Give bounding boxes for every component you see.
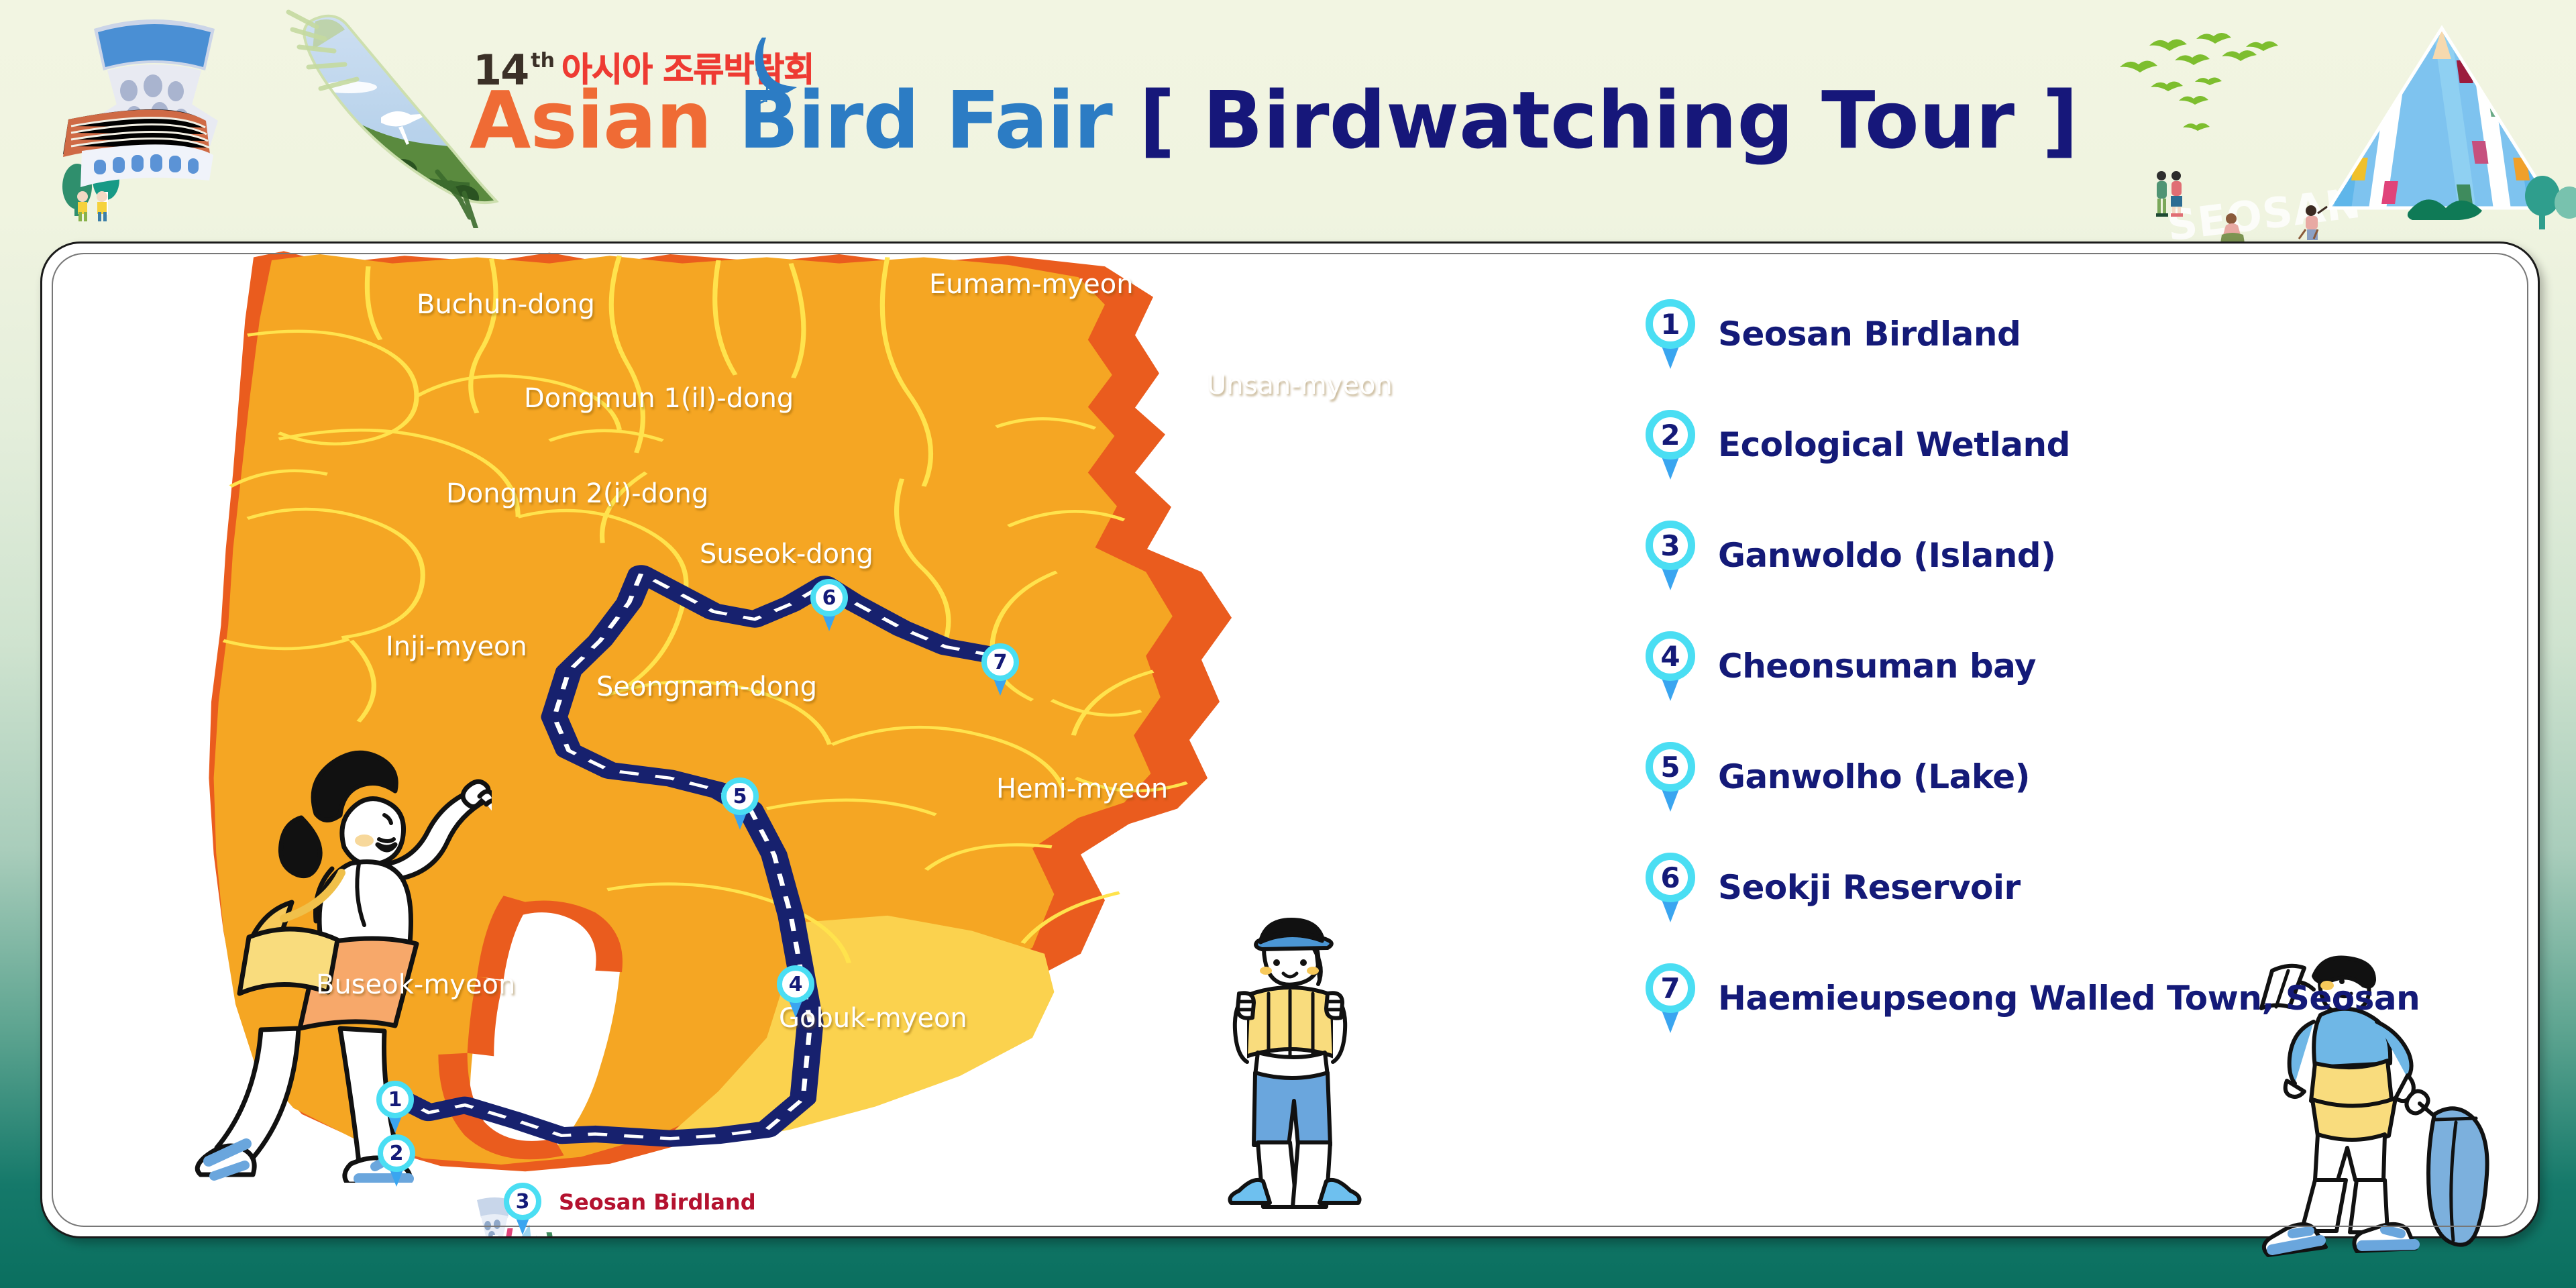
poster-root: 14 th 아시아 조류박람회 Asian Bird Fair [ Birdwa… (0, 0, 2576, 1288)
legend-pin-5: 5 (1646, 742, 1695, 812)
pin-number: 4 (1646, 631, 1695, 681)
legend-pin-4: 4 (1646, 631, 1695, 701)
legend-label-3: Ganwoldo (Island) (1718, 536, 2055, 575)
pin-number: 2 (1646, 410, 1695, 460)
edition-suffix: th (531, 49, 555, 72)
tour-stops-legend: 1 Seosan Birdland 2 Ecological Wetland 3 (1646, 284, 2504, 1196)
legend-pin-2: 2 (1646, 410, 1695, 480)
legend-label-6: Seokji Reservoir (1718, 868, 2021, 907)
legend-label-4: Cheonsuman bay (1718, 647, 2036, 686)
map-marker-1[interactable]: 1 (376, 1081, 414, 1133)
legend-label-1: Seosan Birdland (1718, 315, 2021, 354)
map-label-seosan-birdland: Seosan Birdland (559, 1189, 756, 1215)
region-label-buseok-myeon: Buseok-myeon (316, 969, 515, 1000)
pin-number: 5 (1646, 742, 1695, 792)
legend-item-5[interactable]: 5 Ganwolho (Lake) (1646, 740, 2030, 814)
map-pin-number: 5 (721, 777, 759, 815)
region-label-dongmun-1-dong: Dongmun 1(il)-dong (524, 383, 794, 414)
region-label-dongmun-2-dong: Dongmun 2(i)-dong (446, 478, 708, 509)
region-label-seongnam-dong: Seongnam-dong (596, 672, 817, 702)
map-pin-number: 4 (777, 965, 814, 1003)
map-marker-2[interactable]: 2 (378, 1134, 415, 1187)
legend-item-4[interactable]: 4 Cheonsuman bay (1646, 629, 2036, 703)
region-label-inji-myeon: Inji-myeon (386, 631, 527, 662)
map-marker-4[interactable]: 4 (777, 965, 814, 1018)
legend-pin-3: 3 (1646, 521, 1695, 590)
content-frame: Seosan Birdland Buchun-dong Eumam-myeon … (40, 241, 2540, 1238)
map-pin-number: 1 (376, 1081, 414, 1118)
map-marker-3[interactable]: 3 (504, 1183, 541, 1235)
region-label-buchun-dong: Buchun-dong (417, 289, 595, 320)
title-birdwatching-tour: [ Birdwatching Tour ] (1139, 74, 2078, 166)
page-title: Asian Bird Fair [ Birdwatching Tour ] (470, 80, 2078, 160)
map-pin-number: 7 (981, 643, 1019, 681)
region-label-hemi-myeon: Hemi-myeon (996, 773, 1168, 804)
pin-number: 3 (1646, 521, 1695, 570)
bird-observation-tower-illustration (27, 7, 309, 221)
seosan-watermark: SEOSAN (2165, 178, 2364, 251)
title-asian: Asian (470, 74, 712, 166)
map-pin-number: 2 (378, 1134, 415, 1172)
poster-header: 14 th 아시아 조류박람회 Asian Bird Fair [ Birdwa… (470, 34, 2080, 188)
legend-pin-7: 7 (1646, 963, 1695, 1033)
title-bird-fair: Bird Fair (739, 74, 1112, 166)
bird-flock-icon (2113, 27, 2301, 148)
pin-number: 7 (1646, 963, 1695, 1013)
legend-label-5: Ganwolho (Lake) (1718, 757, 2030, 796)
legend-pin-1: 1 (1646, 299, 1695, 369)
legend-item-1[interactable]: 1 Seosan Birdland (1646, 297, 2021, 371)
region-label-eumam-myeon: Eumam-myeon (929, 269, 1134, 300)
map-marker-6[interactable]: 6 (810, 579, 848, 631)
legend-label-2: Ecological Wetland (1718, 425, 2070, 464)
pin-number: 1 (1646, 299, 1695, 349)
legend-item-7[interactable]: 7 Haemieupseong Walled Town, Seosan (1646, 961, 2420, 1035)
legend-label-7: Haemieupseong Walled Town, Seosan (1718, 979, 2420, 1018)
legend-item-3[interactable]: 3 Ganwoldo (Island) (1646, 519, 2055, 592)
region-label-unsan-myeon: Unsan-myeon (1207, 370, 1393, 400)
region-label-suseok-dong: Suseok-dong (700, 539, 873, 570)
legend-pin-6: 6 (1646, 853, 1695, 922)
legend-item-6[interactable]: 6 Seokji Reservoir (1646, 851, 2021, 924)
legend-item-2[interactable]: 2 Ecological Wetland (1646, 408, 2070, 482)
map-pin-number: 3 (504, 1183, 541, 1220)
map-pin-number: 6 (810, 579, 848, 616)
pin-number: 6 (1646, 853, 1695, 902)
map-marker-7[interactable]: 7 (981, 643, 1019, 696)
map-marker-5[interactable]: 5 (721, 777, 759, 830)
seosan-tour-map[interactable]: Seosan Birdland Buchun-dong Eumam-myeon … (42, 244, 1552, 1236)
